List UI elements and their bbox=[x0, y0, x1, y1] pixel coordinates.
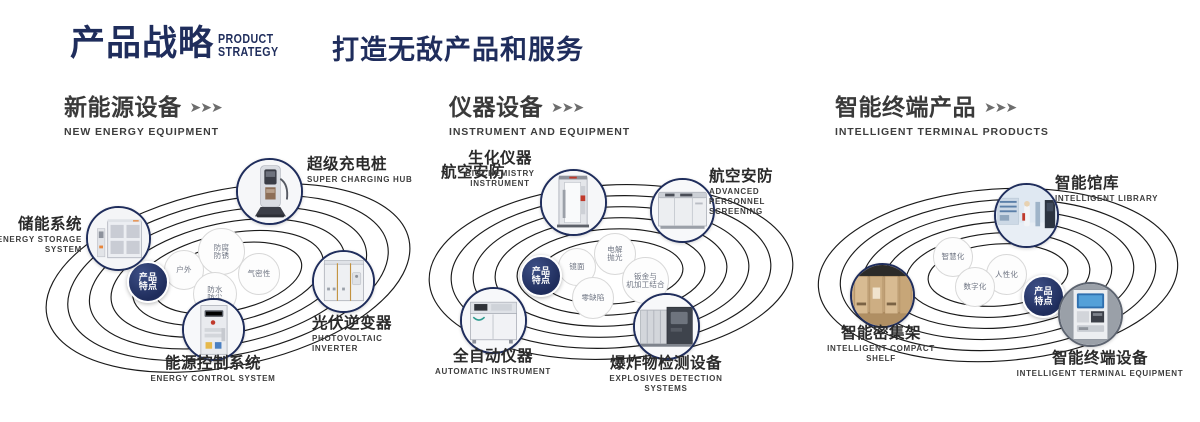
product-strategy-infographic: 产品战略 PRODUCT STRATEGY 打造无敌产品和服务 新能源设备➤➤➤… bbox=[0, 0, 1200, 422]
node-label-intelligent-library: 智能馆库 INTELLIGENT LIBRARY bbox=[1055, 175, 1158, 204]
screening-machine-photo bbox=[652, 180, 713, 241]
pv-inverter-photo bbox=[314, 252, 373, 311]
node-intelligent-library[interactable] bbox=[994, 183, 1059, 248]
node-label-energy-control: 能源控制系统 ENERGY CONTROL SYSTEM bbox=[143, 355, 283, 384]
section-heading-intelligent: 智能终端产品➤➤➤ INTELLIGENT TERMINAL PRODUCTS bbox=[835, 94, 1049, 138]
feature-bubble-3: 气密性 bbox=[238, 253, 280, 295]
node-label-automatic-instrument: 全自动仪器 AUTOMATIC INSTRUMENT bbox=[428, 348, 558, 377]
section-title-en-2: INTELLIGENT TERMINAL PRODUCTS bbox=[835, 126, 1049, 138]
chevron-right-icon: ➤➤➤ bbox=[984, 94, 1016, 120]
automatic-instrument-photo bbox=[462, 289, 525, 352]
section-title-cn-0: 新能源设备➤➤➤ bbox=[64, 94, 222, 120]
node-energy-storage[interactable] bbox=[86, 206, 151, 271]
section-title-en-1: INSTRUMENT AND EQUIPMENT bbox=[449, 126, 630, 138]
node-label-pv-inverter: 光伏逆变器 PHOTOVOLTAIC INVERTER bbox=[312, 315, 430, 354]
node-pv-inverter[interactable] bbox=[312, 250, 375, 313]
node-label-energy-storage: 储能系统 ENERGY STORAGE SYSTEM bbox=[0, 216, 82, 255]
section-title-en-0: NEW ENERGY EQUIPMENT bbox=[64, 126, 222, 138]
page-slogan: 打造无敌产品和服务 bbox=[332, 37, 584, 64]
charging-hub-photo bbox=[238, 160, 301, 223]
node-personnel-screening[interactable] bbox=[650, 178, 715, 243]
node-compact-shelf[interactable] bbox=[850, 263, 915, 328]
energy-storage-photo bbox=[88, 208, 149, 269]
terminal-equipment-photo bbox=[1060, 284, 1121, 345]
node-energy-control[interactable] bbox=[182, 298, 245, 361]
node-label-compact-shelf: 智能密集架 INTELLIGENT COMPACT SHELF bbox=[806, 325, 956, 364]
node-automatic-instrument[interactable] bbox=[460, 287, 527, 354]
chevron-right-icon: ➤➤➤ bbox=[190, 94, 222, 120]
cluster-instruments: 镜面 电解 抛光 零缺陷 钣金与 机加工结合 产品 特点 航空安防 生化仪器 bbox=[415, 150, 815, 415]
chevron-right-icon: ➤➤➤ bbox=[551, 94, 583, 120]
node-explosives-detection[interactable] bbox=[633, 293, 700, 360]
intelligent-library-photo bbox=[996, 185, 1057, 246]
node-label-terminal-equipment: 智能终端设备 INTELLIGENT TERMINAL EQUIPMENT bbox=[1015, 350, 1185, 379]
core-bubble: 产品 特点 bbox=[520, 255, 562, 297]
section-title-cn-1: 仪器设备➤➤➤ bbox=[449, 94, 630, 120]
node-label-biochemistry: 生化仪器 BIOCHEMISTRY INSTRUMENT bbox=[440, 150, 560, 189]
node-charging-hub[interactable] bbox=[236, 158, 303, 225]
section-heading-new-energy: 新能源设备➤➤➤ NEW ENERGY EQUIPMENT bbox=[64, 94, 222, 138]
feature-bubble-2: 数字化 bbox=[955, 267, 995, 307]
page-title-cn: 产品战略 bbox=[70, 26, 214, 61]
page-title-en: PRODUCT STRATEGY bbox=[218, 32, 279, 58]
compact-shelf-photo bbox=[852, 265, 913, 326]
energy-control-photo bbox=[184, 300, 243, 359]
feature-bubble-2: 零缺陷 bbox=[572, 277, 614, 319]
explosives-detection-photo bbox=[635, 295, 698, 358]
node-label-explosives-detection: 爆炸物检测设备 EXPLOSIVES DETECTION SYSTEMS bbox=[601, 355, 731, 394]
cluster-new-energy: 户外 防腐 防锈 防水 防尘 气密性 产品 特点 储能系统 ENERGY S bbox=[30, 150, 430, 415]
section-title-cn-2: 智能终端产品➤➤➤ bbox=[835, 94, 1049, 120]
node-terminal-equipment[interactable] bbox=[1058, 282, 1123, 347]
section-heading-instruments: 仪器设备➤➤➤ INSTRUMENT AND EQUIPMENT bbox=[449, 94, 630, 138]
cluster-intelligent-terminal: 智慧化 人性化 数字化 产品 特点 智能馆库 I bbox=[800, 150, 1200, 415]
